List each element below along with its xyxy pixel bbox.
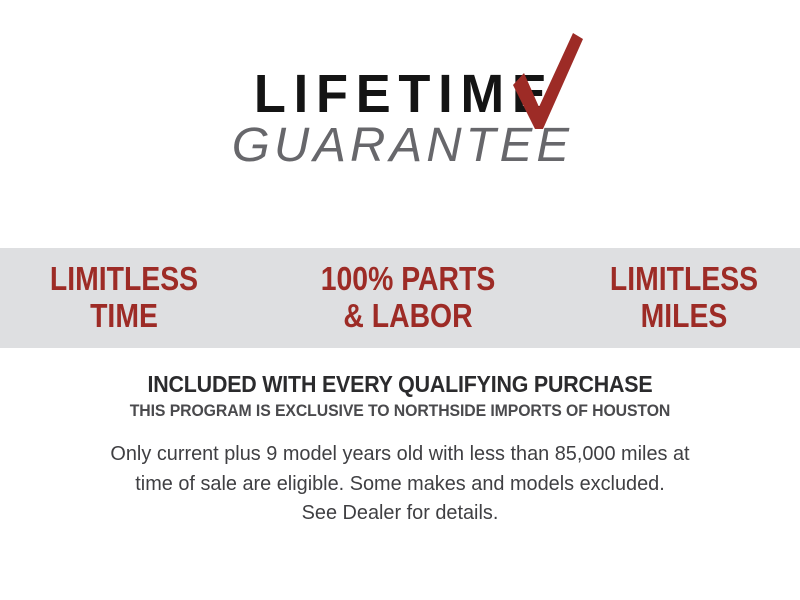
detail-headline: INCLUDED WITH EVERY QUALIFYING PURCHASE bbox=[28, 372, 772, 397]
feature-column-limitless-time: LIMITLESS TIME bbox=[0, 261, 250, 335]
feature-line-1: 100% PARTS bbox=[289, 261, 526, 298]
logo-subword: GUARANTEE bbox=[227, 122, 572, 171]
logo-block: LIFETIME GUARANTEE bbox=[0, 0, 800, 248]
feature-line-1: LIMITLESS bbox=[565, 261, 800, 298]
disclaimer-line-2: time of sale are eligible. Some makes an… bbox=[46, 469, 754, 499]
detail-block: INCLUDED WITH EVERY QUALIFYING PURCHASE … bbox=[0, 348, 800, 600]
logo-lockup: LIFETIME GUARANTEE bbox=[231, 69, 570, 172]
detail-disclaimer: Only current plus 9 model years old with… bbox=[46, 439, 754, 528]
lifetime-guarantee-promo: LIFETIME GUARANTEE LIMITLESS TIME 100% P… bbox=[0, 0, 800, 600]
feature-line-2: TIME bbox=[0, 298, 250, 335]
feature-line-2: & LABOR bbox=[289, 298, 526, 335]
disclaimer-line-1: Only current plus 9 model years old with… bbox=[46, 439, 754, 469]
feature-line-2: MILES bbox=[565, 298, 800, 335]
feature-column-limitless-miles: LIMITLESS MILES bbox=[565, 261, 800, 335]
feature-column-parts-labor: 100% PARTS & LABOR bbox=[289, 261, 526, 335]
logo-wordmark: LIFETIME bbox=[236, 69, 565, 121]
disclaimer-line-3: See Dealer for details. bbox=[46, 498, 754, 528]
detail-subhead: THIS PROGRAM IS EXCLUSIVE TO NORTHSIDE I… bbox=[28, 402, 772, 421]
feature-line-1: LIMITLESS bbox=[0, 261, 250, 298]
feature-band: LIMITLESS TIME 100% PARTS & LABOR LIMITL… bbox=[0, 248, 800, 348]
